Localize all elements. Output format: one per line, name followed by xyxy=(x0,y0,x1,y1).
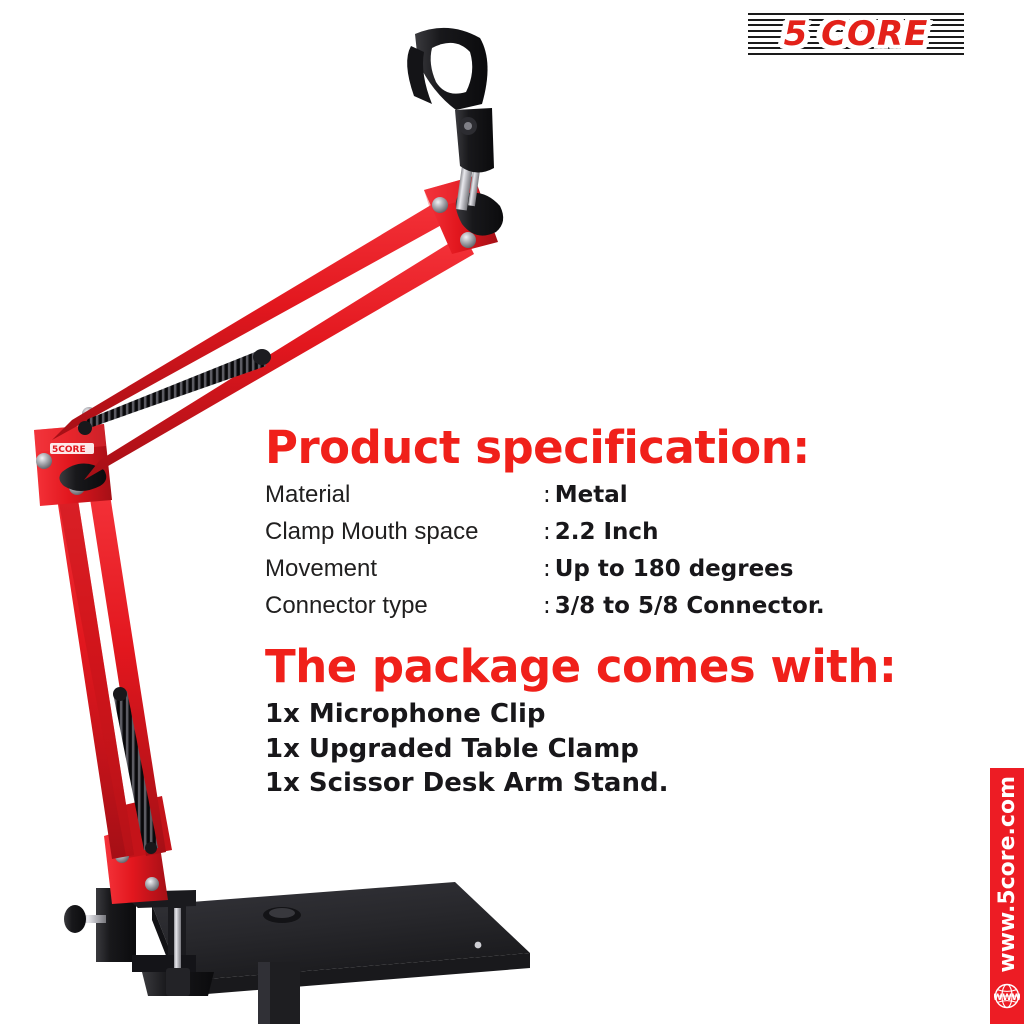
spec-value-text: Up to 180 degrees xyxy=(555,556,794,582)
table-row: Clamp Mouth space :2.2 Inch xyxy=(265,518,825,555)
info-panel: Product specification: Material :Metal C… xyxy=(265,424,905,801)
package-contents-title: The package comes with: xyxy=(265,643,905,692)
table-row: Movement :Up to 180 degrees xyxy=(265,555,825,592)
spec-value-movement: :Up to 180 degrees xyxy=(543,555,825,592)
spec-label-clamp-mouth-space: Clamp Mouth space xyxy=(265,518,543,555)
spec-value-material: :Metal xyxy=(543,481,825,518)
spec-value-text: 2.2 Inch xyxy=(555,519,659,545)
table-row: Connector type :3/8 to 5/8 Connector. xyxy=(265,592,825,629)
list-item: 1x Scissor Desk Arm Stand. xyxy=(265,766,905,801)
spec-label-connector-type: Connector type xyxy=(265,592,543,629)
spec-colon: : xyxy=(543,482,551,508)
lower-scissor-arm xyxy=(53,468,166,859)
website-ribbon: www.5core.com WWW xyxy=(990,768,1024,1024)
spec-value-text: Metal xyxy=(555,482,628,508)
svg-text:WWW: WWW xyxy=(994,993,1020,1003)
spec-label-material: Material xyxy=(265,481,543,518)
product-specification-title: Product specification: xyxy=(265,424,905,473)
spec-colon: : xyxy=(543,556,551,582)
microphone-clip xyxy=(407,28,494,173)
desk-pole xyxy=(258,962,300,1024)
spec-colon: : xyxy=(543,519,551,545)
spec-colon: : xyxy=(543,593,551,619)
spec-value-clamp-mouth-space: :2.2 Inch xyxy=(543,518,825,555)
globe-www-icon: WWW xyxy=(994,983,1020,1014)
logo-wordmark: 5 CORE xyxy=(748,8,964,60)
spec-value-text: 3/8 to 5/8 Connector. xyxy=(555,593,825,619)
arm-logo-text: 5CORE xyxy=(52,445,86,455)
spec-label-movement: Movement xyxy=(265,555,543,592)
list-item: 1x Upgraded Table Clamp xyxy=(265,732,905,767)
logo-wordmark-text: 5 CORE xyxy=(784,14,929,54)
website-url-text: www.5core.com xyxy=(995,776,1020,973)
brand-logo: 5 CORE xyxy=(748,8,964,60)
table-row: Material :Metal xyxy=(265,481,825,518)
package-contents-list: 1x Microphone Clip 1x Upgraded Table Cla… xyxy=(265,697,905,801)
spec-value-connector-type: :3/8 to 5/8 Connector. xyxy=(543,592,825,629)
clamp-t-handle xyxy=(142,968,214,996)
specification-table: Material :Metal Clamp Mouth space :2.2 I… xyxy=(265,481,825,629)
list-item: 1x Microphone Clip xyxy=(265,697,905,732)
